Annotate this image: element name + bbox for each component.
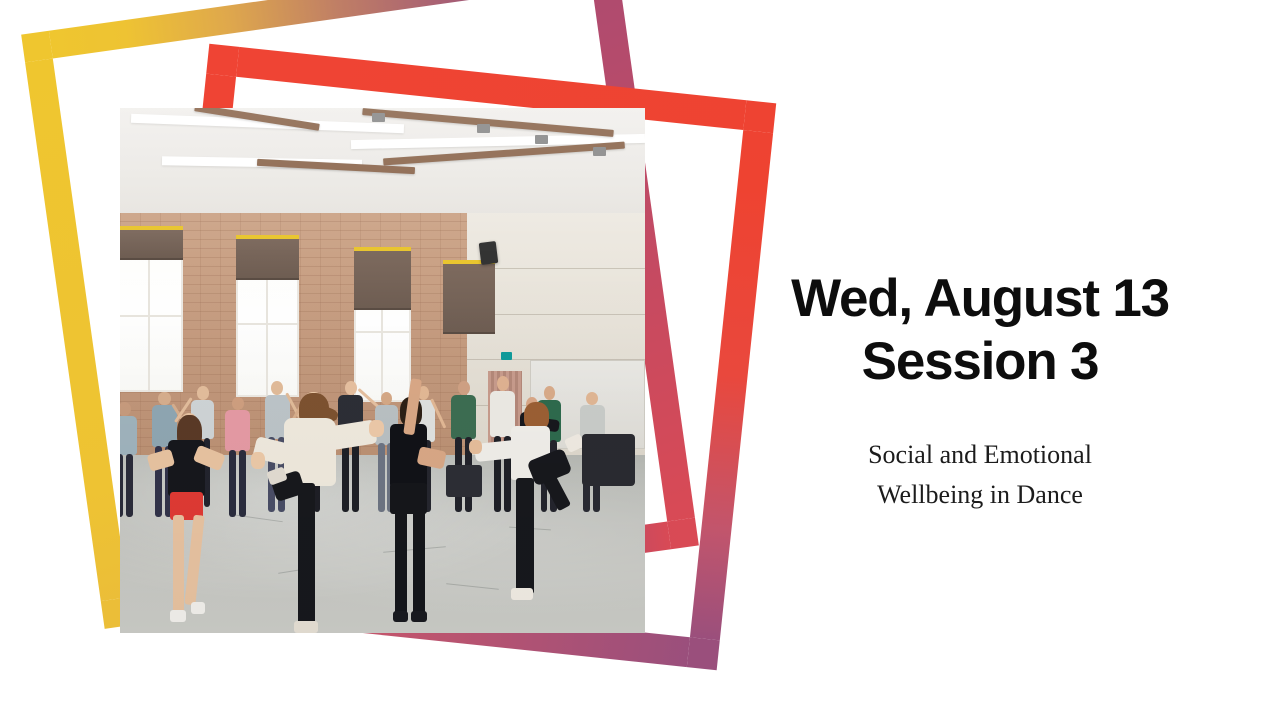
photo-grade (120, 108, 645, 633)
dance-studio-photo (120, 108, 645, 633)
photo-scene (120, 108, 645, 633)
title-line-2: Session 3 (748, 331, 1212, 394)
text-block: Wed, August 13 Session 3 Social and Emot… (748, 268, 1212, 516)
subtitle-line-2: Wellbeing in Dance (748, 475, 1212, 515)
title-line-1: Wed, August 13 (748, 268, 1212, 331)
subtitle: Social and Emotional Wellbeing in Dance (748, 435, 1212, 516)
subtitle-line-1: Social and Emotional (748, 435, 1212, 475)
slide-canvas: Wed, August 13 Session 3 Social and Emot… (0, 0, 1280, 720)
